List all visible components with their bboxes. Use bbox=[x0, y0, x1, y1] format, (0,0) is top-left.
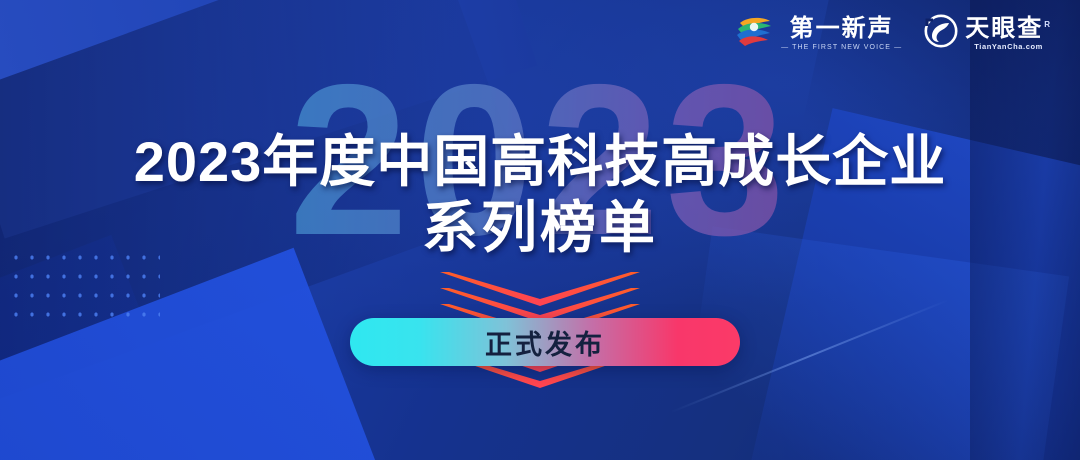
logo-tianyancha[interactable]: 天眼查R TianYanCha.com bbox=[924, 14, 1052, 53]
swoosh-ribbon-icon bbox=[734, 14, 774, 53]
promo-banner: 2023 2023年度中国高科技高成长企业 系列榜单 正式发布 bbox=[0, 0, 1080, 460]
logo-diyixinsheng-text: 第一新声 — THE FIRST NEW VOICE — bbox=[781, 16, 902, 50]
logo-diyixinsheng-name: 第一新声 bbox=[790, 16, 894, 41]
logo-tianyancha-tagline: TianYanCha.com bbox=[974, 42, 1043, 51]
logo-diyixinsheng[interactable]: 第一新声 — THE FIRST NEW VOICE — bbox=[734, 14, 902, 53]
logo-tianyancha-name-cn: 天眼查 bbox=[965, 15, 1043, 42]
chevron-icon bbox=[440, 272, 640, 306]
logo-tianyancha-name: 天眼查R bbox=[965, 16, 1052, 41]
title-block: 2023年度中国高科技高成长企业 系列榜单 bbox=[0, 132, 1080, 259]
page-title-line-2: 系列榜单 bbox=[0, 198, 1080, 258]
release-cta-label: 正式发布 bbox=[485, 323, 605, 362]
logo-bar: 第一新声 — THE FIRST NEW VOICE — 天眼查R TianYa… bbox=[734, 14, 1052, 53]
registered-trademark-icon: R bbox=[1044, 20, 1052, 29]
logo-tianyancha-text: 天眼查R TianYanCha.com bbox=[965, 16, 1052, 51]
page-title-line-1: 2023年度中国高科技高成长企业 bbox=[0, 132, 1080, 192]
aperture-eye-icon bbox=[924, 14, 958, 53]
release-cta-button[interactable]: 正式发布 bbox=[350, 318, 740, 366]
logo-diyixinsheng-tagline: — THE FIRST NEW VOICE — bbox=[781, 44, 902, 51]
